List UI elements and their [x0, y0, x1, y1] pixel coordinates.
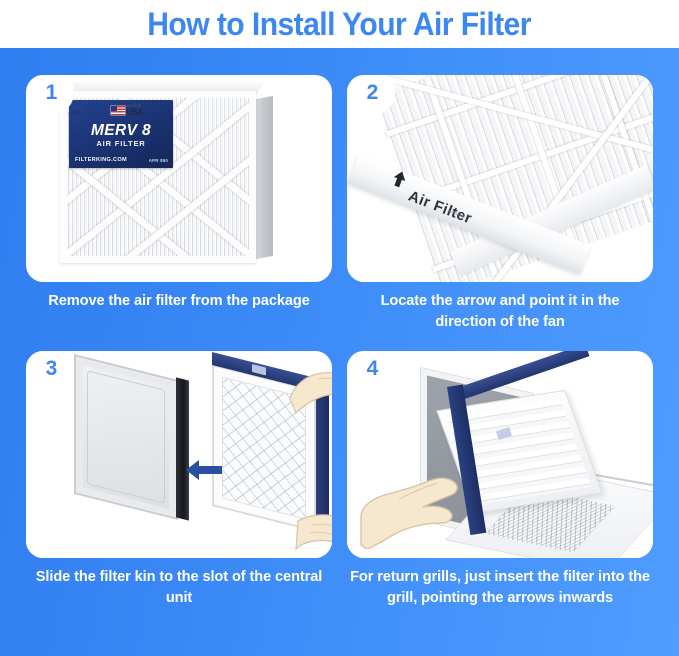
step-2-card: Air Filter AIRFLOW 2: [347, 75, 653, 282]
step-2-caption: Locate the arrow and point it in the dir…: [350, 291, 650, 332]
crown-icon: [71, 107, 82, 116]
step-1-caption: Remove the air filter from the package: [29, 291, 329, 312]
central-unit-body: [74, 354, 178, 520]
filter-corner-photo: Air Filter AIRFLOW: [347, 75, 653, 282]
merv-rating-text: MERV 8: [69, 122, 173, 140]
step-3: 3 Slide the filter kin to the slot of th…: [19, 351, 339, 608]
step-3-number: 3: [46, 358, 58, 379]
step-3-caption: Slide the filter kin to the slot of the …: [29, 567, 329, 608]
return-grill-illustration: [347, 351, 653, 558]
step-4: 4 For return grills, just insert the fil…: [340, 351, 660, 608]
air-filter-subtitle: AIR FILTER: [69, 139, 173, 148]
apr-rating-text: APR 850: [149, 158, 168, 163]
filter-box-graphic: FILTER KING MADE IN USA: [60, 91, 256, 263]
slide-filter-illustration: [26, 351, 332, 558]
step-4-card: 4: [347, 351, 653, 558]
how-to-install-air-filter-infographic: How to Install Your Air Filter: [0, 0, 679, 656]
air-filter-product-photo: FILTER KING MADE IN USA: [26, 75, 332, 282]
step-4-caption: For return grills, just insert the filte…: [350, 567, 650, 608]
filter-website-text: FILTERKING.COM: [75, 157, 127, 163]
central-unit-slot: [176, 377, 189, 520]
steps-grid: FILTER KING MADE IN USA: [0, 48, 679, 656]
brand-line-2: KING: [84, 111, 104, 116]
page-title: How to Install Your Air Filter: [148, 6, 532, 43]
hand-inserting-filter-icon: [359, 459, 463, 549]
step-1: FILTER KING MADE IN USA: [19, 75, 339, 312]
title-bar: How to Install Your Air Filter: [0, 0, 679, 48]
hand-upper-icon: [288, 369, 332, 423]
usa-text: USA: [127, 109, 143, 117]
filter-brand-header: FILTER KING MADE IN USA: [71, 103, 175, 119]
made-in-usa-badge: MADE IN USA: [111, 105, 143, 116]
hand-lower-icon: [294, 511, 332, 555]
step-3-card: 3: [26, 351, 332, 558]
step-1-number: 1: [46, 82, 58, 103]
filter-king-logo: FILTER KING: [71, 106, 104, 117]
step-1-card: FILTER KING MADE IN USA: [26, 75, 332, 282]
step-2: Air Filter AIRFLOW 2 Locate the arrow an…: [340, 75, 660, 332]
insert-direction-arrow-icon: [186, 459, 222, 481]
step-4-number: 4: [367, 358, 379, 379]
usa-flag-icon: [111, 106, 125, 115]
step-2-number: 2: [367, 82, 379, 103]
